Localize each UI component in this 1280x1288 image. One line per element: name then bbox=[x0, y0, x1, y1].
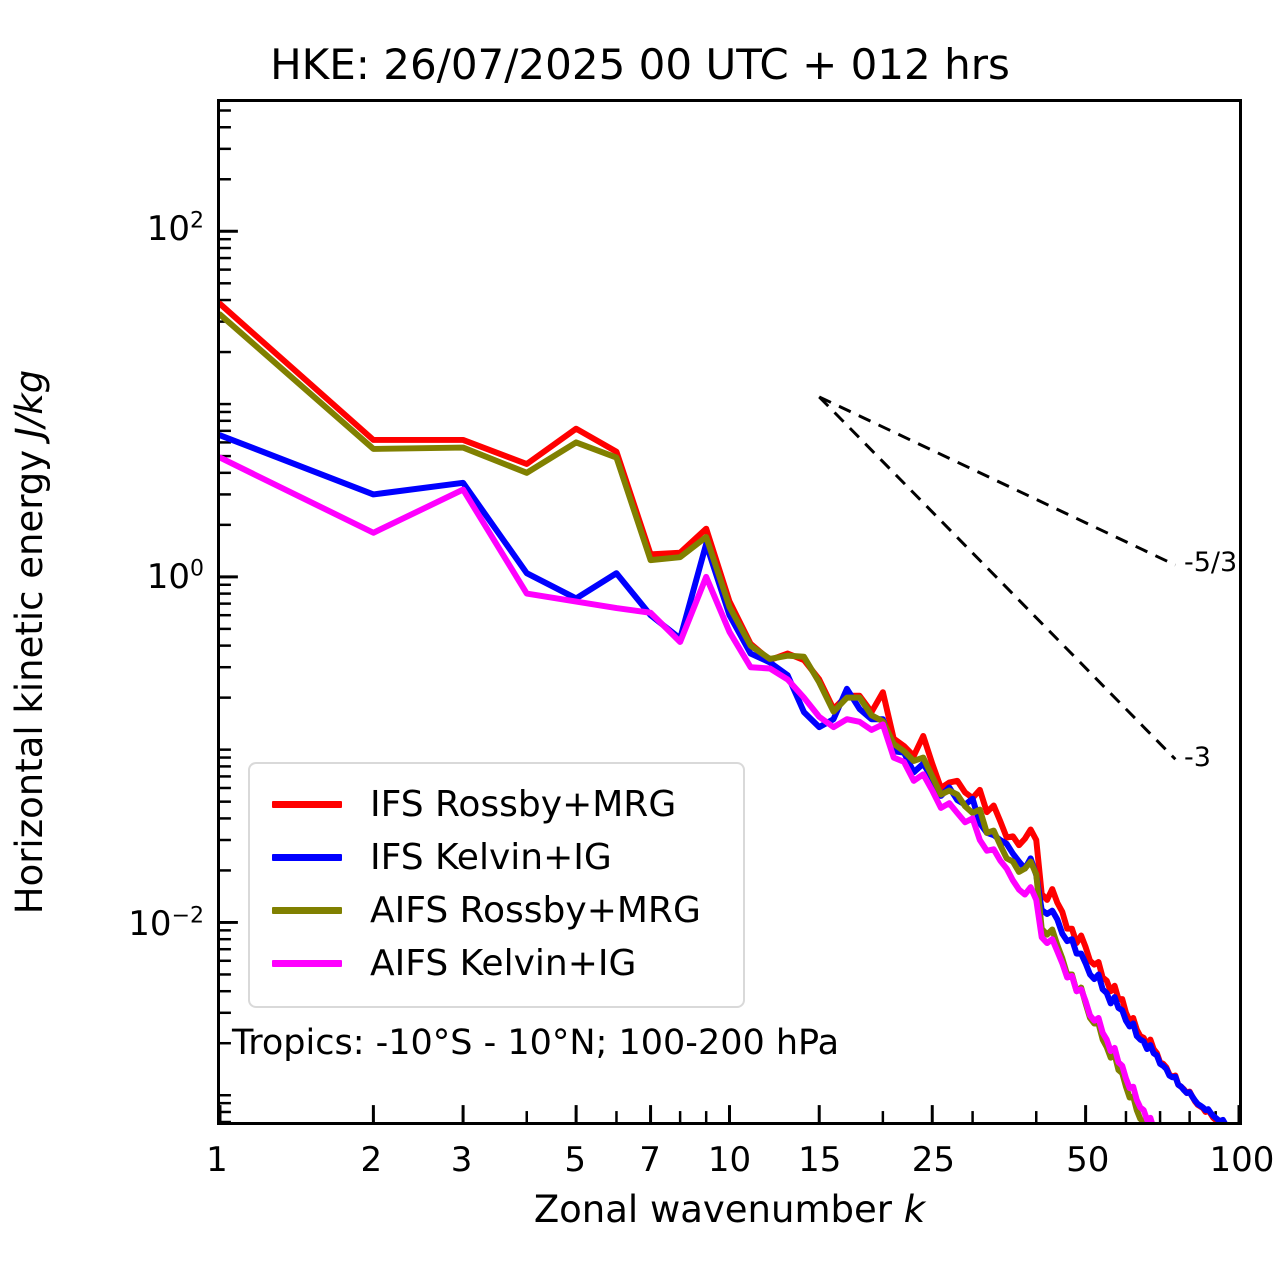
legend-item[interactable]: AIFS Rossby+MRG bbox=[250, 884, 743, 937]
y-tick-label: 102 bbox=[147, 209, 204, 249]
x-axis-label-text: Zonal wavenumber bbox=[534, 1188, 904, 1231]
legend-item[interactable]: AIFS Kelvin+IG bbox=[250, 937, 743, 990]
legend-item-label: AIFS Rossby+MRG bbox=[370, 890, 701, 932]
legend-item-label: IFS Kelvin+IG bbox=[370, 837, 612, 879]
figure-canvas: HKE: 26/07/2025 00 UTC + 012 hrs 1235710… bbox=[0, 0, 1280, 1288]
legend-color-swatch bbox=[272, 801, 342, 808]
y-tick-label: 10−2 bbox=[128, 904, 204, 944]
x-axis-label: Zonal wavenumber k bbox=[217, 1186, 1242, 1234]
y-axis-label-unit: J/kg bbox=[8, 370, 51, 438]
y-axis-label: Horizontal kinetic energy J/kg bbox=[0, 129, 60, 1155]
slope-label: -3 bbox=[1184, 743, 1211, 773]
legend-item[interactable]: IFS Rossby+MRG bbox=[250, 778, 743, 831]
x-tick-label: 1 bbox=[206, 1140, 228, 1180]
legend-color-swatch bbox=[272, 907, 342, 914]
x-tick-label: 3 bbox=[451, 1140, 473, 1180]
y-axis-label-text: Horizontal kinetic energy bbox=[8, 438, 51, 914]
x-tick-label: 7 bbox=[639, 1140, 661, 1180]
y-tick-label: 100 bbox=[147, 557, 204, 597]
x-tick-label: 2 bbox=[360, 1140, 382, 1180]
legend-color-swatch bbox=[272, 960, 342, 967]
legend-box: IFS Rossby+MRGIFS Kelvin+IGAIFS Rossby+M… bbox=[248, 762, 745, 1008]
slope-label: -5/3 bbox=[1184, 548, 1237, 578]
legend-item-label: AIFS Kelvin+IG bbox=[370, 943, 636, 985]
x-tick-label: 50 bbox=[1066, 1140, 1109, 1180]
reference-slope-line bbox=[819, 397, 1175, 565]
x-tick-label: 15 bbox=[798, 1140, 841, 1180]
chart-title: HKE: 26/07/2025 00 UTC + 012 hrs bbox=[0, 40, 1280, 90]
region-annotation: Tropics: -10°S - 10°N; 100-200 hPa bbox=[232, 1022, 839, 1064]
x-axis-label-symbol: k bbox=[904, 1188, 925, 1231]
legend-color-swatch bbox=[272, 854, 342, 861]
x-tick-label: 25 bbox=[912, 1140, 955, 1180]
x-tick-label: 5 bbox=[564, 1140, 586, 1180]
legend-item[interactable]: IFS Kelvin+IG bbox=[250, 831, 743, 884]
x-tick-label: 10 bbox=[708, 1140, 751, 1180]
x-tick-label: 100 bbox=[1210, 1140, 1275, 1180]
legend-item-label: IFS Rossby+MRG bbox=[370, 784, 676, 826]
